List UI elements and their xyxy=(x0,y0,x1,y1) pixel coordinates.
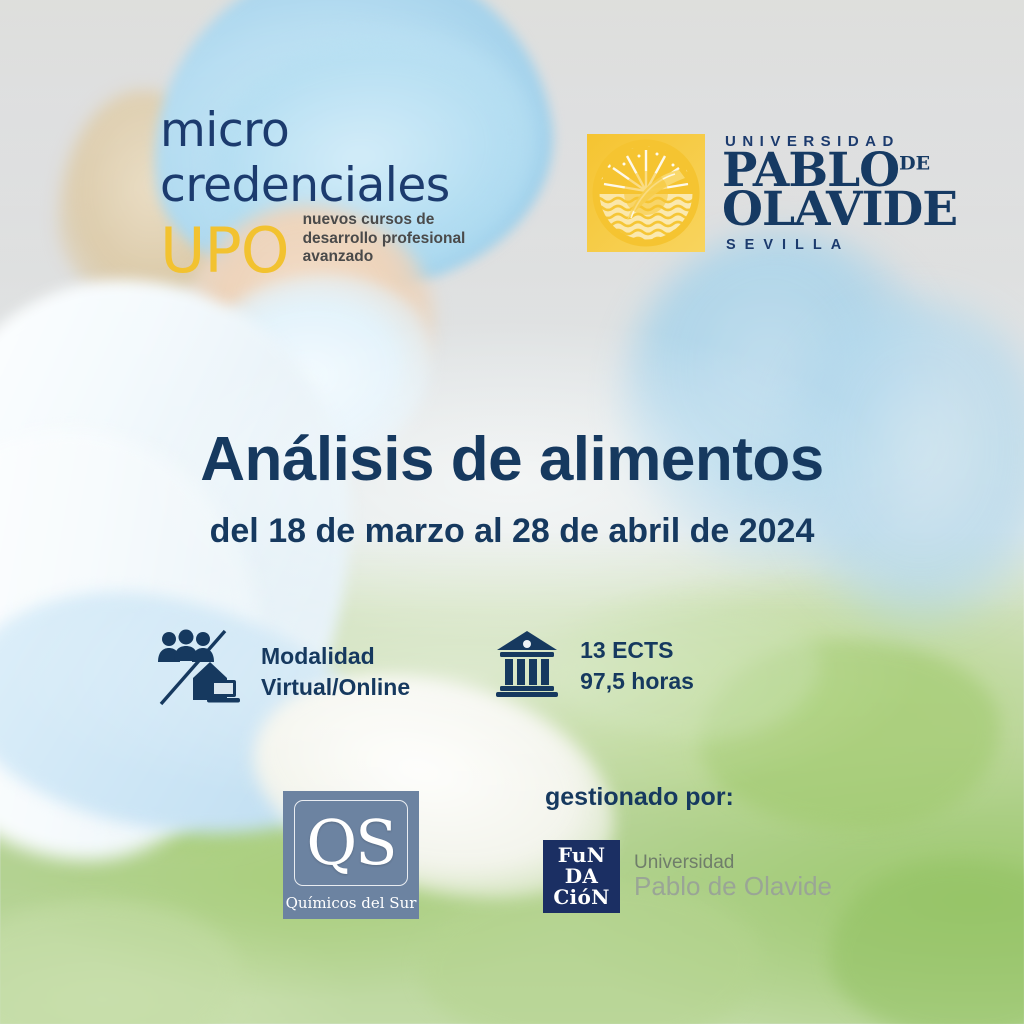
credits-line2: 97,5 horas xyxy=(580,666,694,697)
microcredenciales-line2: credenciales xyxy=(160,163,465,209)
course-title: Análisis de alimentos xyxy=(0,424,1024,495)
course-dates: del 18 de marzo al 28 de abril de 2024 xyxy=(0,512,1024,551)
quimicos-del-sur-logo: QS Químicos del Sur xyxy=(283,791,419,919)
fundacion-org-line1: Universidad xyxy=(634,853,832,873)
fundacion-line1: FuN xyxy=(558,845,606,866)
qs-logo-caption: Químicos del Sur xyxy=(286,894,417,912)
institution-bank-icon xyxy=(494,628,560,703)
qs-logo-letters: QS xyxy=(306,812,395,874)
credits-text: 13 ECTS 97,5 horas xyxy=(580,635,694,697)
upo-name-olavide: OLAVIDE xyxy=(722,191,957,230)
microcredenciales-upo-word: UPO xyxy=(160,223,289,279)
modality-line1: Modalidad xyxy=(261,641,410,672)
managed-by-label: gestionado por: xyxy=(545,783,734,812)
qs-logo-frame: QS xyxy=(294,800,408,886)
modality-text: Modalidad Virtual/Online xyxy=(261,641,410,703)
credits-line1: 13 ECTS xyxy=(580,635,694,666)
people-house-laptop-online-icon xyxy=(155,628,241,715)
course-info-row: Modalidad Virtual/Online xyxy=(155,628,694,715)
upo-sevilla-label: SEVILLA xyxy=(726,237,957,253)
upo-sun-emblem-icon xyxy=(587,134,705,252)
upo-name-de: DE xyxy=(899,152,930,174)
microcredenciales-line1: micro xyxy=(160,108,465,154)
modality-line2: Virtual/Online xyxy=(261,672,410,703)
info-item-credits: 13 ECTS 97,5 horas xyxy=(494,628,694,703)
fundacion-org-line2: Pablo de Olavide xyxy=(634,873,832,901)
microcredenciales-logo: micro credenciales UPO nuevos cursos de … xyxy=(160,108,465,279)
fundacion-line3: CióN xyxy=(553,887,609,908)
tagline-line2: desarrollo profesional xyxy=(303,230,466,249)
tagline-line3: avanzado xyxy=(303,248,466,267)
tagline-line1: nuevos cursos de xyxy=(303,211,466,230)
fundacion-org-name: Universidad Pablo de Olavide xyxy=(634,853,832,901)
course-poster: micro credenciales UPO nuevos cursos de … xyxy=(0,0,1024,1024)
info-item-modality: Modalidad Virtual/Online xyxy=(155,628,410,715)
fundacion-line2: DA xyxy=(565,866,598,887)
microcredenciales-tagline: nuevos cursos de desarrollo profesional … xyxy=(303,211,466,279)
fundacion-mark: FuN DA CióN xyxy=(543,840,620,913)
universidad-pablo-olavide-logo: UNIVERSIDAD PABLODE OLAVIDE SEVILLA xyxy=(587,133,957,253)
fundacion-upo-logo: FuN DA CióN Universidad Pablo de Olavide xyxy=(543,840,832,913)
